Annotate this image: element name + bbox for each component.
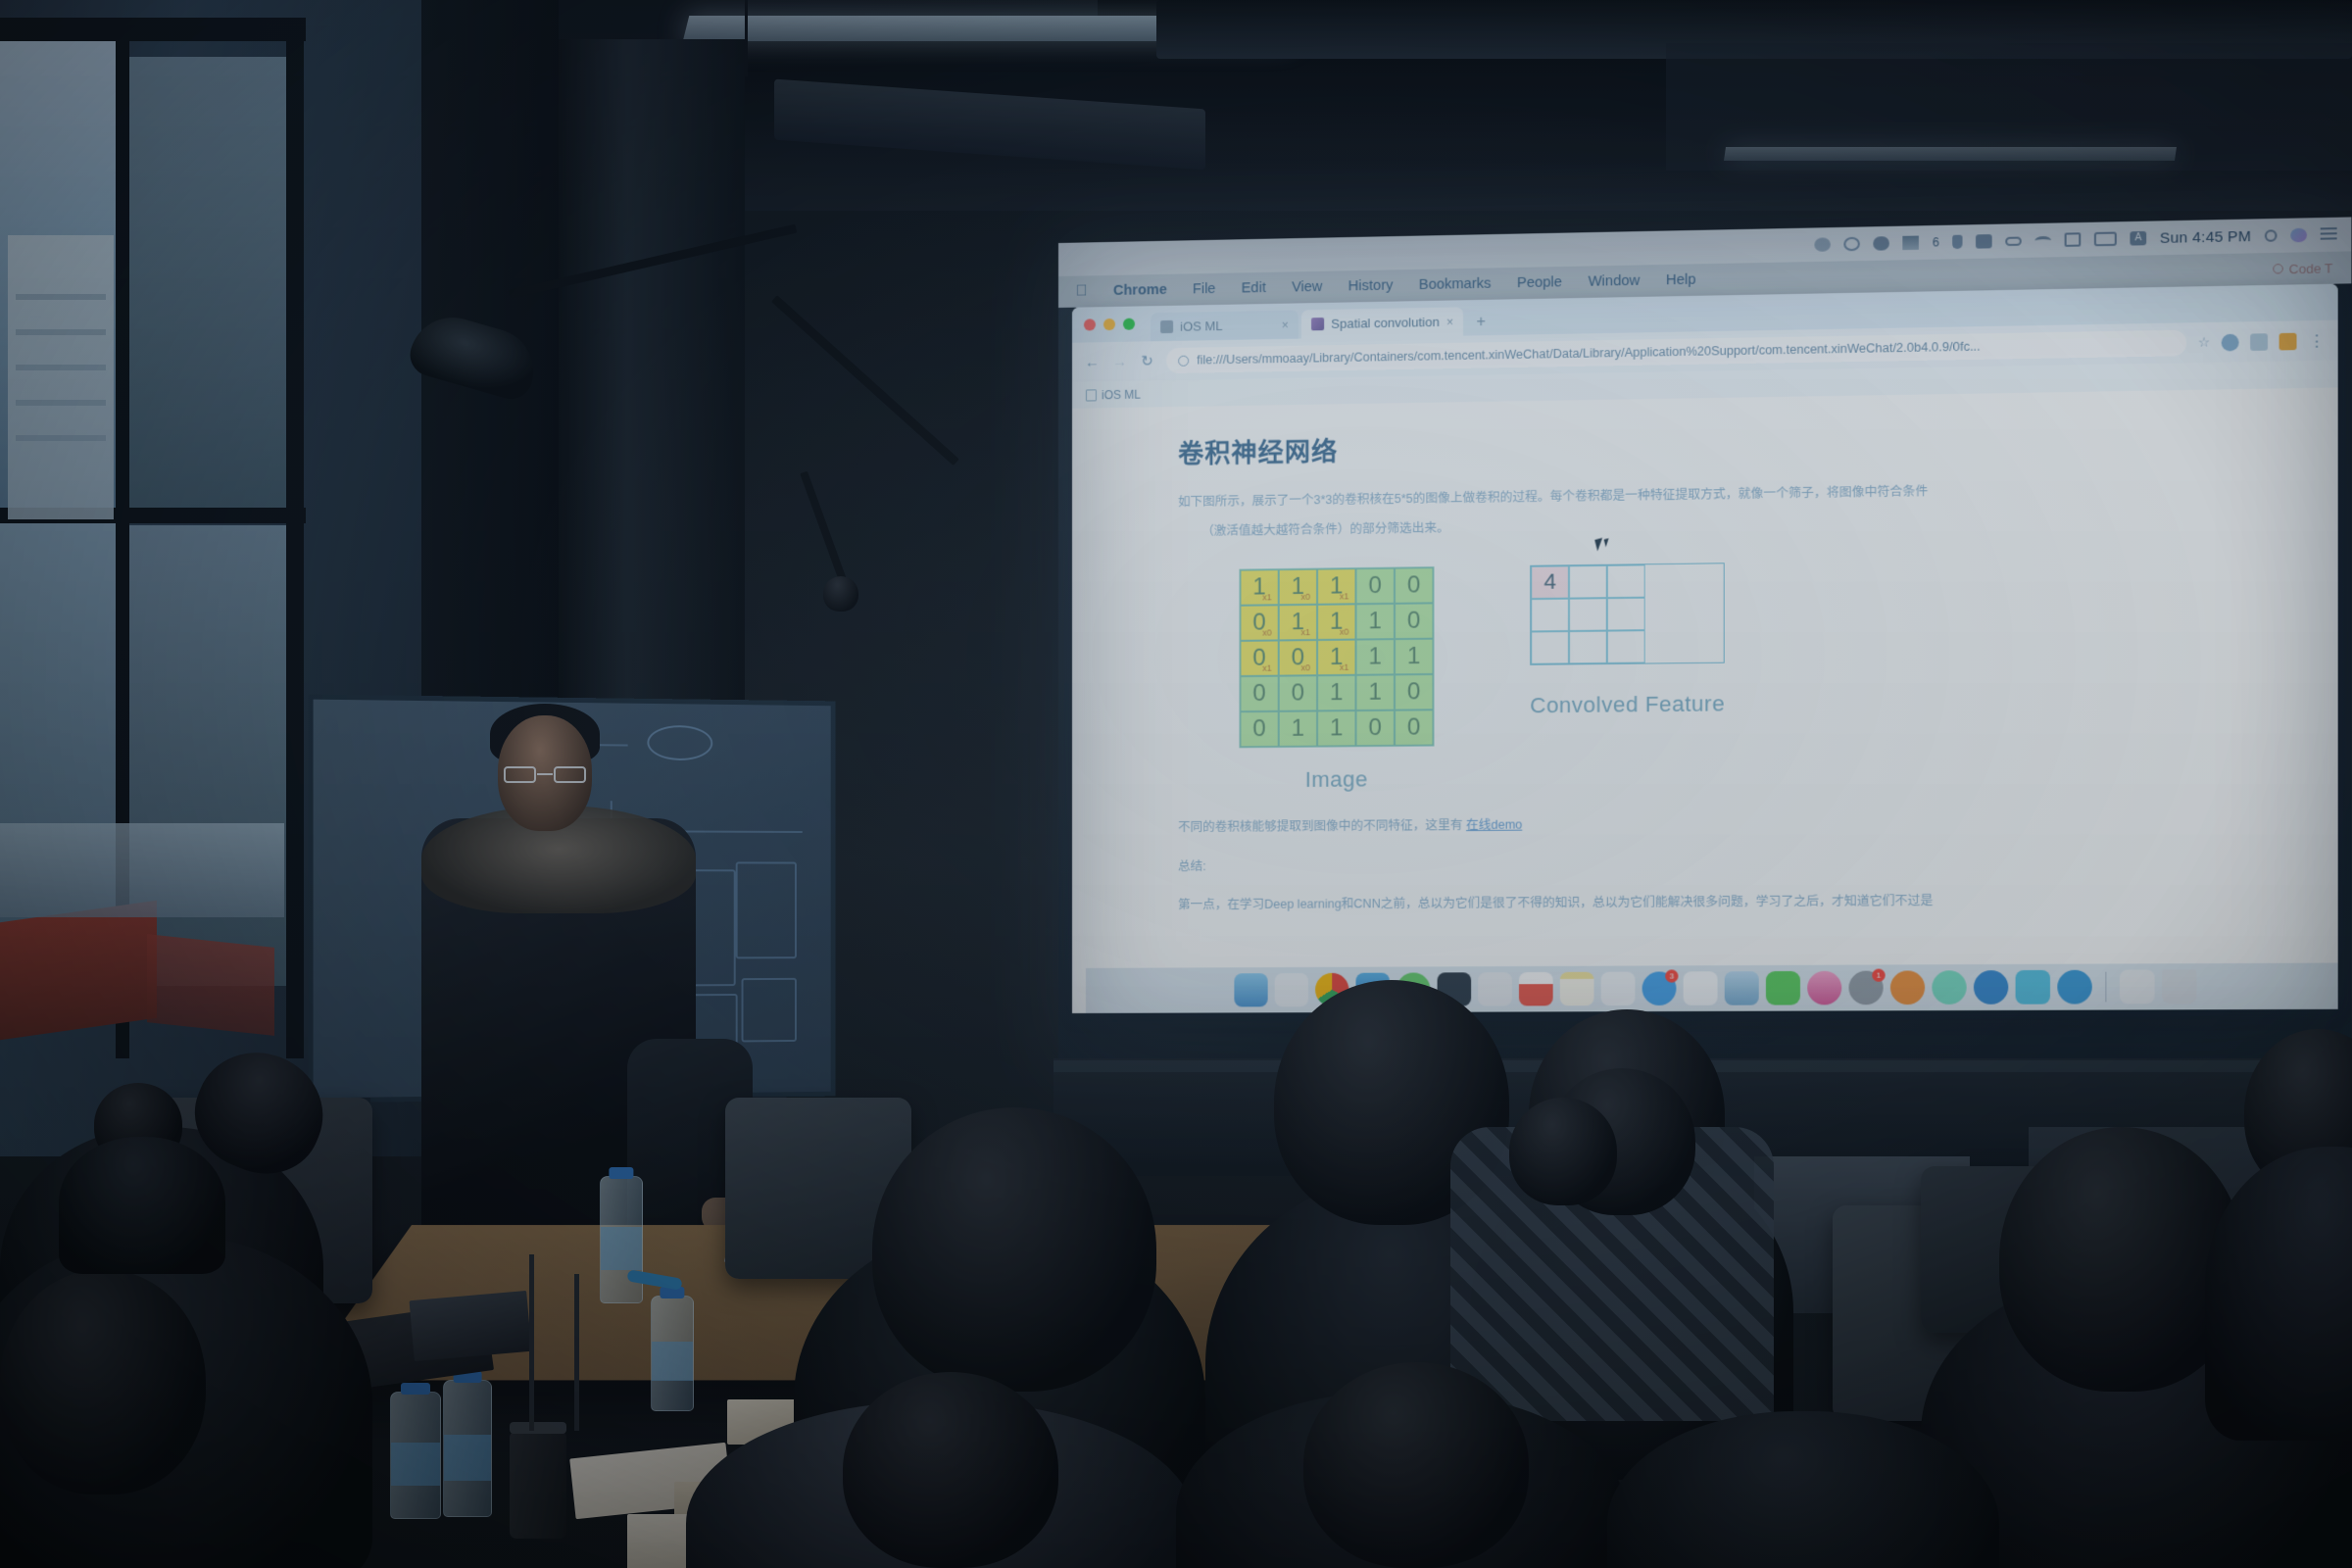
audience-head xyxy=(0,1269,206,1494)
system-preferences-icon[interactable]: 1 xyxy=(1849,971,1884,1005)
building-window-row-3 xyxy=(16,365,106,370)
matrix-cell: 1 xyxy=(1317,710,1355,747)
matrix-cell: 1x0 xyxy=(1317,604,1355,640)
feature-cell xyxy=(1607,630,1645,663)
kernel-multiplier: x1 xyxy=(1340,662,1349,672)
back-arrow-icon[interactable]: ← xyxy=(1084,354,1101,370)
matrix-cell: 0 xyxy=(1240,711,1278,748)
ceiling-wire-2 xyxy=(745,0,748,76)
profile-avatar-icon[interactable] xyxy=(2222,333,2239,351)
convolved-feature-block: 4 Convolved Feature xyxy=(1530,563,1725,720)
circle-icon[interactable] xyxy=(1844,237,1861,252)
classroom-presentation-photo: 6 A Sun 4:45 PM  Chrome F xyxy=(0,0,2352,1568)
feature-cell xyxy=(1531,631,1569,664)
dropbox-icon[interactable] xyxy=(1815,237,1832,252)
tab-spatial-convolution[interactable]: Spatial convolution × xyxy=(1301,307,1463,338)
audience-body xyxy=(59,1137,225,1274)
feature-cell xyxy=(1569,565,1607,599)
cell-value: 1 xyxy=(1330,679,1344,707)
matrix-cell: 1 xyxy=(1317,675,1355,711)
matrix-cell: 1 xyxy=(1355,674,1394,710)
projected-desktop: 6 A Sun 4:45 PM  Chrome F xyxy=(1058,217,2351,1071)
thermos-lid xyxy=(510,1422,566,1434)
chrome-browser-window: iOS ML × Spatial convolution × + ← → ↻ xyxy=(1072,284,2338,1013)
kernel-multiplier: x1 xyxy=(1262,592,1272,602)
kernel-multiplier: x0 xyxy=(1262,627,1272,637)
macos-dock[interactable]: 3 1 xyxy=(1086,962,2338,1012)
page-title: 卷积神经网络 xyxy=(1178,417,2227,470)
feature-cell: 4 xyxy=(1531,565,1569,599)
extension-icon[interactable] xyxy=(2250,333,2268,351)
sublime-text-icon[interactable] xyxy=(2120,969,2155,1004)
image-matrix-block: 1x1 1x0 1x1 0 0 0x0 1x1 1x0 1 0 xyxy=(1239,566,1434,793)
cell-value: 0 xyxy=(1292,679,1304,707)
summary-title: 总结: xyxy=(1178,848,2227,879)
minimize-window-button[interactable] xyxy=(1103,318,1115,330)
image-matrix: 1x1 1x0 1x1 0 0 0x0 1x1 1x0 1 0 xyxy=(1239,566,1434,748)
thermos-flask xyxy=(510,1431,566,1539)
audience-head xyxy=(872,1107,1156,1392)
glasses-bridge xyxy=(537,773,553,775)
menu-history[interactable]: History xyxy=(1348,277,1394,294)
audience-head xyxy=(1509,1098,1617,1205)
matrix-cell: 1 xyxy=(1279,710,1317,747)
cell-value: 1 xyxy=(1368,678,1382,706)
window-traffic-lights[interactable] xyxy=(1084,318,1135,331)
menu-bookmarks[interactable]: Bookmarks xyxy=(1419,276,1492,294)
kernel-multiplier: x0 xyxy=(1340,626,1349,636)
tab-ios-ml[interactable]: iOS ML × xyxy=(1151,310,1298,341)
input-source-icon[interactable]: A xyxy=(2131,231,2147,246)
notification-center-icon[interactable] xyxy=(2321,227,2337,242)
safari-icon[interactable] xyxy=(1932,970,1966,1004)
kernel-multiplier: x0 xyxy=(1300,592,1310,602)
cell-value: 0 xyxy=(1407,571,1421,599)
photos-icon[interactable] xyxy=(1478,972,1512,1005)
cell-value: 1 xyxy=(1368,608,1382,635)
kernel-multiplier: x1 xyxy=(1300,627,1310,637)
feature-cell xyxy=(1569,630,1607,663)
trash-icon[interactable] xyxy=(2162,969,2197,1004)
water-bottle-1 xyxy=(600,1176,643,1303)
presenter-glasses-icon xyxy=(504,766,586,783)
battery-saver-icon[interactable] xyxy=(1952,235,1962,249)
siri-icon[interactable] xyxy=(2290,228,2307,243)
outside-lower-building xyxy=(0,823,284,917)
cell-value: 1 xyxy=(1407,643,1421,670)
matrix-cell: 0x0 xyxy=(1279,640,1317,676)
water-bottle-2 xyxy=(651,1296,694,1411)
image-label: Image xyxy=(1239,765,1434,793)
menu-people[interactable]: People xyxy=(1517,274,1562,291)
page-favicon-icon xyxy=(1160,320,1173,333)
matrix-cell: 1x1 xyxy=(1279,605,1317,641)
bookmark-ios-ml[interactable]: iOS ML xyxy=(1086,387,1141,402)
messages-icon[interactable] xyxy=(1766,971,1800,1005)
cell-value: 4 xyxy=(1543,569,1555,595)
menubar-counter: 6 xyxy=(1933,235,1939,249)
outside-red-roof xyxy=(0,901,157,1040)
after-diagram-prefix: 不同的卷积核能够提取到图像中的不同特征，这里有 xyxy=(1178,818,1466,834)
glasses-lens-left xyxy=(504,766,536,783)
kernel-multiplier: x0 xyxy=(1300,662,1310,672)
maximize-window-button[interactable] xyxy=(1123,318,1135,330)
evernote-icon[interactable] xyxy=(1974,970,2008,1004)
bottle-cap xyxy=(401,1383,430,1395)
matrix-cell: 0 xyxy=(1279,675,1317,711)
menu-file[interactable]: File xyxy=(1193,281,1215,297)
notes-icon[interactable] xyxy=(1560,972,1594,1006)
kernel-multiplier: x1 xyxy=(1262,662,1272,672)
calendar-icon[interactable] xyxy=(1519,972,1553,1005)
bottle-label xyxy=(652,1342,693,1380)
menu-window[interactable]: Window xyxy=(1589,273,1641,290)
matrix-cell: 0 xyxy=(1395,567,1434,604)
feature-cell xyxy=(1607,564,1645,598)
shield-icon[interactable] xyxy=(1976,234,1992,249)
building-window-row xyxy=(16,294,106,300)
building-window-row-5 xyxy=(16,435,106,441)
matrix-cell: 0x1 xyxy=(1240,640,1278,676)
wifi-icon[interactable] xyxy=(2034,235,2051,245)
cell-value: 0 xyxy=(1252,715,1265,743)
ceiling-light-right xyxy=(1724,147,2177,161)
chrome-menu-icon[interactable]: ⋮ xyxy=(2308,332,2326,350)
link-icon[interactable] xyxy=(2005,236,2022,246)
bottle-label xyxy=(391,1443,440,1486)
quicktime-icon[interactable] xyxy=(2057,970,2091,1004)
projection-screen: 6 A Sun 4:45 PM  Chrome F xyxy=(1058,217,2351,1071)
matrix-cell: 0 xyxy=(1355,710,1394,746)
dock-separator xyxy=(2105,972,2106,1003)
appstore-icon[interactable]: 3 xyxy=(1642,971,1677,1005)
cell-value: 1 xyxy=(1292,714,1304,742)
matrix-cell: 1x1 xyxy=(1317,568,1355,605)
mic-stand-1 xyxy=(529,1254,534,1431)
building-window-row-2 xyxy=(16,329,106,335)
activity-monitor-icon[interactable] xyxy=(1903,236,1920,251)
matrix-cell: 1x0 xyxy=(1279,568,1317,605)
kernel-multiplier: x1 xyxy=(1340,591,1349,601)
cell-value: 0 xyxy=(1407,607,1421,634)
page-info-icon[interactable] xyxy=(1178,355,1189,366)
close-window-button[interactable] xyxy=(1084,318,1096,330)
lamp-ball-joint xyxy=(823,576,858,612)
window-pane-mid xyxy=(125,57,290,517)
matrix-cell: 0 xyxy=(1240,675,1278,711)
matrix-cell: 1x1 xyxy=(1317,639,1355,675)
window-frame-top xyxy=(0,18,306,41)
apple-logo-icon[interactable]:  xyxy=(1076,282,1088,300)
matrix-cell: 1 xyxy=(1395,638,1434,674)
building-window-row-4 xyxy=(16,400,106,406)
tab-label: iOS ML xyxy=(1180,318,1223,334)
forward-arrow-icon[interactable]: → xyxy=(1111,353,1128,369)
outside-red-roof-2 xyxy=(147,934,274,1036)
matrix-cell: 0x0 xyxy=(1240,605,1278,641)
launchpad-icon[interactable] xyxy=(1275,973,1308,1006)
cell-value: 0 xyxy=(1407,713,1421,741)
matrix-cell: 1 xyxy=(1355,604,1394,640)
mic-stand-2 xyxy=(574,1274,579,1431)
water-bottle-4 xyxy=(443,1380,492,1517)
qq-icon[interactable] xyxy=(1601,972,1636,1006)
audience-head xyxy=(1303,1362,1529,1568)
feature-cell xyxy=(1569,598,1607,631)
after-diagram-text: 不同的卷积核能够提取到图像中的不同特征，这里有 在线demo xyxy=(1178,808,2227,839)
reminders-icon[interactable] xyxy=(1684,971,1718,1005)
matrix-cell: 1x1 xyxy=(1240,569,1278,606)
finder-icon[interactable] xyxy=(1234,973,1267,1006)
matrix-cell: 0 xyxy=(1395,710,1434,746)
feature-cell xyxy=(1607,597,1645,630)
itunes-icon[interactable] xyxy=(1807,971,1841,1005)
bottle-label xyxy=(601,1227,642,1270)
menu-view[interactable]: View xyxy=(1292,279,1322,296)
bottle-cap xyxy=(609,1167,633,1179)
convolution-diagram: 1x1 1x0 1x1 0 0 0x0 1x1 1x0 1 0 xyxy=(1239,556,2227,793)
matrix-cell: 0 xyxy=(1355,567,1394,604)
cell-value: 0 xyxy=(1252,680,1265,708)
tablet-on-table xyxy=(410,1291,532,1361)
tab-close-icon[interactable]: × xyxy=(1282,318,1289,331)
mouse-cursor-icon xyxy=(1594,537,1605,551)
menubar-code-t-item[interactable]: Code T xyxy=(2273,261,2333,277)
page-favicon-icon xyxy=(1311,318,1324,330)
menu-chrome[interactable]: Chrome xyxy=(1113,282,1167,299)
convolved-feature-grid: 4 xyxy=(1530,563,1725,665)
cell-value: 0 xyxy=(1407,678,1421,706)
url-text: file:///Users/mmoaay/Library/Containers/… xyxy=(1197,339,1981,367)
cell-value: 1 xyxy=(1368,643,1382,670)
cell-value: 1 xyxy=(1330,714,1344,742)
preview-icon[interactable] xyxy=(1725,971,1759,1005)
menubar-status-items[interactable]: 6 A Sun 4:45 PM xyxy=(1815,226,2337,254)
feature-cell xyxy=(1531,598,1569,631)
code-t-icon xyxy=(2273,264,2283,273)
tab-close-icon[interactable]: × xyxy=(1446,315,1453,328)
structural-column xyxy=(549,39,745,715)
system-preferences-badge: 1 xyxy=(1872,969,1885,982)
bookmark-label: iOS ML xyxy=(1102,387,1141,402)
cloud-icon[interactable] xyxy=(1874,236,1890,251)
water-bottle-3 xyxy=(390,1392,441,1519)
extension-icon-2[interactable] xyxy=(2279,332,2297,350)
whiteboard-diagram-box-4 xyxy=(742,978,797,1043)
spotlight-search-icon[interactable] xyxy=(2265,229,2278,242)
matrix-cell: 0 xyxy=(1395,674,1434,710)
bookmark-star-icon[interactable]: ☆ xyxy=(2198,334,2210,351)
new-tab-button[interactable]: + xyxy=(1466,314,1495,336)
cell-value: 0 xyxy=(1368,572,1382,600)
glasses-lens-right xyxy=(554,766,586,783)
whiteboard-scribble-oval xyxy=(647,725,712,760)
summary-body: 第一点，在学习Deep learning和CNN之前，总以为它们是很了不得的知识… xyxy=(1178,887,2227,917)
code-t-label: Code T xyxy=(2289,261,2333,276)
online-demo-link[interactable]: 在线demo xyxy=(1466,817,1522,832)
matrix-cell: 0 xyxy=(1395,603,1434,639)
matrix-cell: 1 xyxy=(1355,639,1394,675)
appstore-badge: 3 xyxy=(1665,969,1678,982)
bottle-label xyxy=(444,1435,491,1481)
outside-building xyxy=(8,235,114,519)
page-icon xyxy=(1086,389,1097,401)
cell-value: 0 xyxy=(1368,714,1382,742)
menubar-clock[interactable]: Sun 4:45 PM xyxy=(2160,227,2251,246)
web-page-content: 卷积神经网络 如下图所示，展示了一个3*3的卷积核在5*5的图像上做卷积的过程。… xyxy=(1072,387,2338,1012)
menu-edit[interactable]: Edit xyxy=(1242,280,1266,297)
keynote-icon[interactable] xyxy=(2016,970,2050,1004)
whiteboard-diagram-box-2 xyxy=(736,861,797,958)
window-mullion-v2 xyxy=(286,20,304,1058)
reload-icon[interactable]: ↻ xyxy=(1139,353,1155,369)
convolved-feature-label: Convolved Feature xyxy=(1530,689,1725,720)
battery-icon[interactable] xyxy=(2094,232,2117,247)
menu-help[interactable]: Help xyxy=(1666,272,1696,289)
tab-label: Spatial convolution xyxy=(1331,315,1440,331)
audience-head xyxy=(843,1372,1058,1568)
airplay-icon[interactable] xyxy=(2065,232,2082,247)
ibooks-icon[interactable] xyxy=(1890,970,1925,1004)
